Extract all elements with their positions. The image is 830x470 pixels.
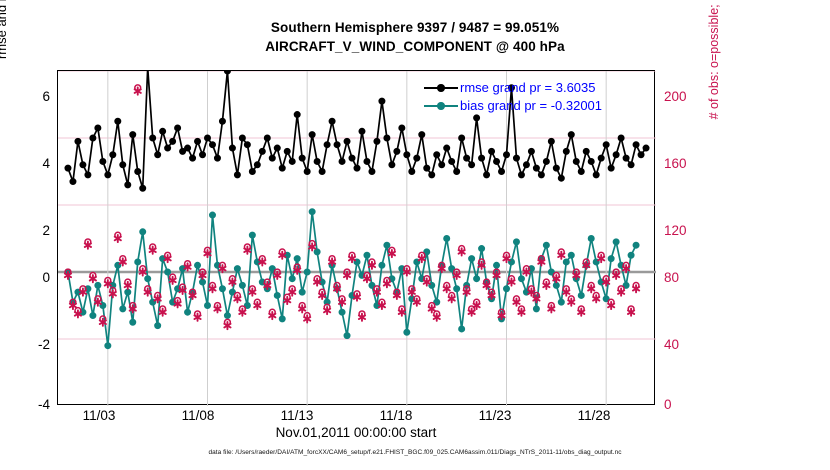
legend-label-rmse: rmse grand pr = 3.6035 bbox=[458, 79, 596, 97]
legend-entry-bias: bias grand pr = -0.32001 bbox=[424, 97, 602, 115]
y-tick-left-0: 6 bbox=[8, 89, 50, 104]
x-tick-3: 11/18 bbox=[361, 408, 431, 423]
title-line-2: AIRCRAFT_V_WIND_COMPONENT @ 400 hPa bbox=[0, 37, 830, 56]
x-tick-2: 11/13 bbox=[262, 408, 332, 423]
x-tick-5: 11/28 bbox=[559, 408, 629, 423]
title-line-1: Southern Hemisphere 9397 / 9487 = 99.051… bbox=[0, 18, 830, 37]
y-tick-left-5: -4 bbox=[8, 397, 50, 412]
x-tick-4: 11/23 bbox=[460, 408, 530, 423]
page-title: Southern Hemisphere 9397 / 9487 = 99.051… bbox=[0, 18, 830, 56]
y-tick-left-1: 4 bbox=[8, 156, 50, 171]
legend-marker-rmse bbox=[424, 79, 458, 97]
plot-area bbox=[57, 70, 655, 405]
series-bias-grand-pr-0-32001 bbox=[65, 209, 639, 349]
legend-entry-rmse: rmse grand pr = 3.6035 bbox=[424, 79, 602, 97]
chart-page: Southern Hemisphere 9397 / 9487 = 99.051… bbox=[0, 0, 830, 470]
y-tick-right-5: 0 bbox=[664, 397, 714, 412]
x-tick-0: 11/03 bbox=[64, 408, 134, 423]
legend-label-bias: bias grand pr = -0.32001 bbox=[458, 97, 602, 115]
legend-marker-bias bbox=[424, 97, 458, 115]
x-tick-1: 11/08 bbox=[163, 408, 233, 423]
y-tick-right-0: 200 bbox=[664, 89, 714, 104]
y-tick-right-3: 80 bbox=[664, 270, 714, 285]
y-tick-left-3: 0 bbox=[8, 270, 50, 285]
footer-data-file: data file: /Users/raeder/DAI/ATM_forcXX/… bbox=[0, 449, 830, 456]
y-tick-right-2: 120 bbox=[664, 223, 714, 238]
chart-legend: rmse grand pr = 3.6035 bias grand pr = -… bbox=[424, 79, 602, 115]
y-tick-left-4: -2 bbox=[8, 337, 50, 352]
y-tick-left-2: 2 bbox=[8, 223, 50, 238]
plot-canvas bbox=[58, 71, 656, 406]
y-tick-right-1: 160 bbox=[664, 156, 714, 171]
y-tick-right-4: 40 bbox=[664, 337, 714, 352]
x-axis-label: Nov.01,2011 00:00:00 start bbox=[57, 425, 655, 440]
